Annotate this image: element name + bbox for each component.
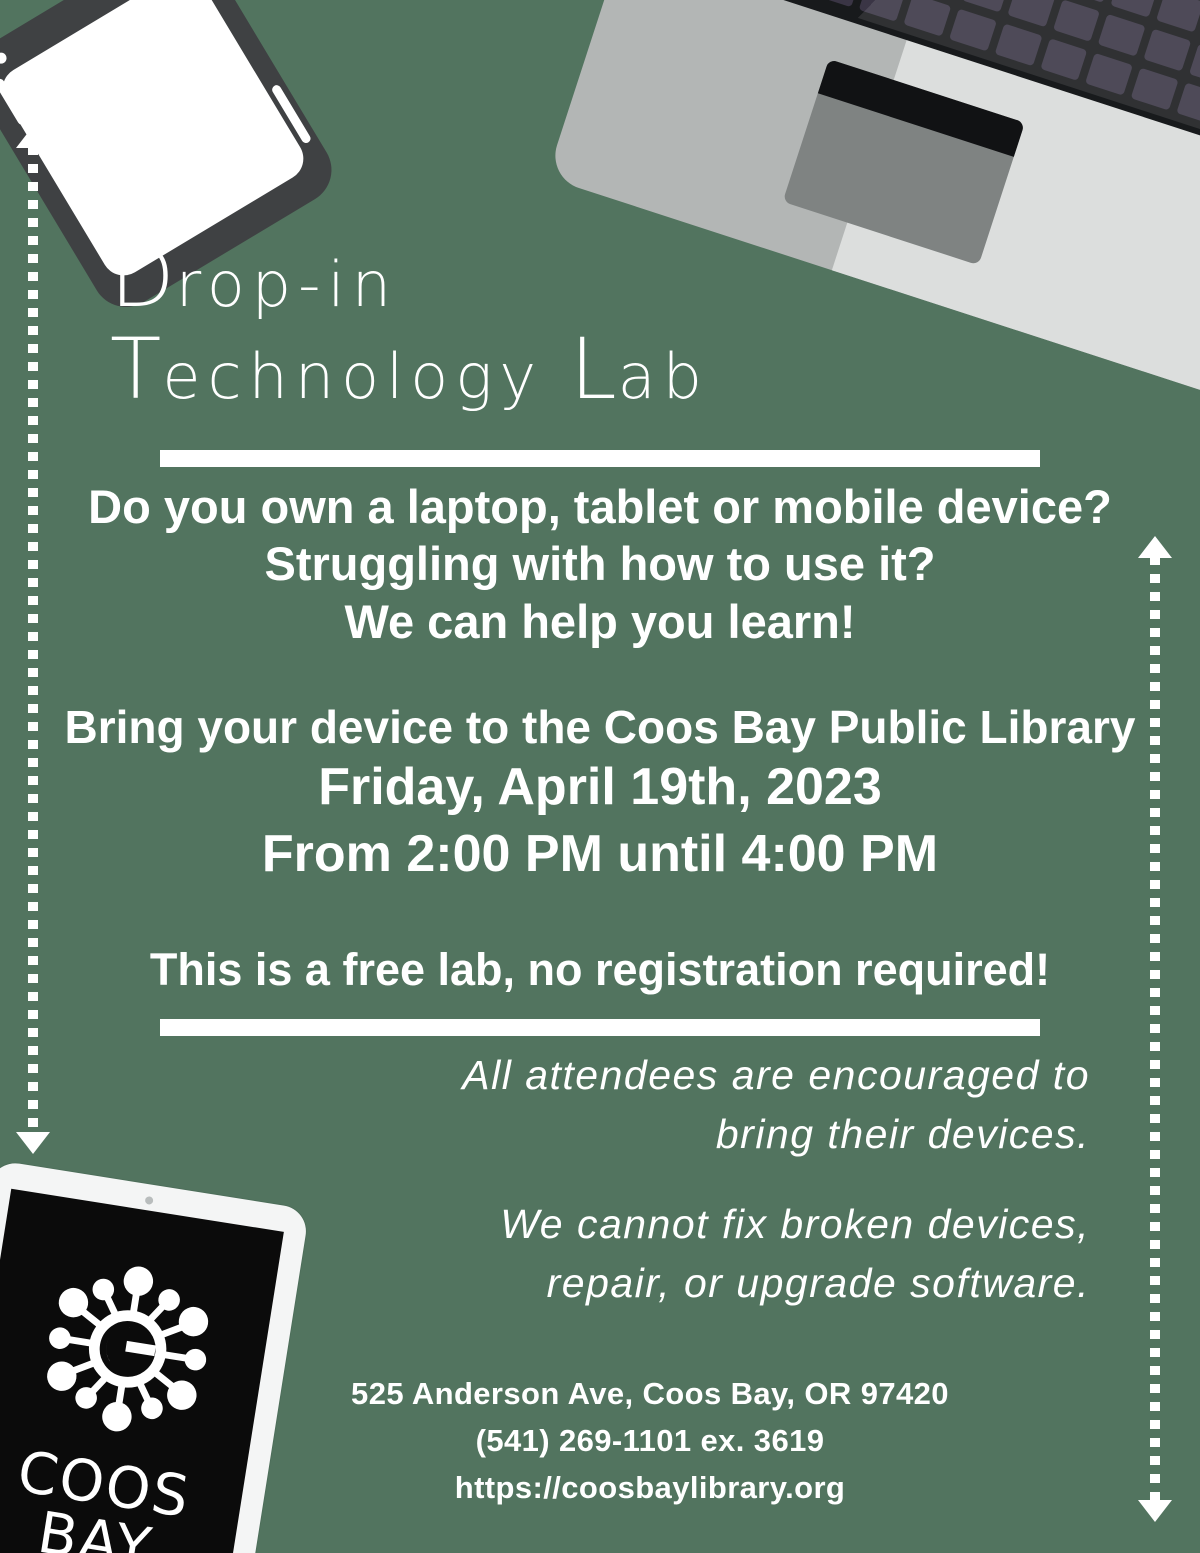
title-rest-2: echnology [162, 340, 570, 413]
note-limitations: We cannot fix broken devices, repair, or… [260, 1195, 1090, 1314]
title-line-1: Drop-in [110, 236, 990, 318]
coos-bay-library-burst-icon [16, 1237, 240, 1461]
note-2-line-1: We cannot fix broken devices, [260, 1195, 1090, 1254]
event-details-block: Bring your device to the Coos Bay Public… [30, 700, 1170, 887]
contact-phone: (541) 269-1101 ex. 3619 [250, 1417, 1050, 1464]
notes-block: All attendees are encouraged to bring th… [260, 1046, 1090, 1314]
event-time-line: From 2:00 PM until 4:00 PM [30, 821, 1170, 888]
free-notice: This is a free lab, no registration requ… [30, 944, 1170, 996]
page-title: Drop-in Technology Lab [110, 236, 990, 411]
title-cap-t: T [110, 320, 162, 418]
contact-address: 525 Anderson Ave, Coos Bay, OR 97420 [250, 1370, 1050, 1417]
intro-line-2: Struggling with how to use it? [40, 535, 1160, 592]
event-date-line: Friday, April 19th, 2023 [30, 754, 1170, 821]
poster-canvas: Drop-in Technology Lab Do you own a lapt… [0, 0, 1200, 1553]
divider-bottom [160, 1019, 1040, 1036]
title-rest-3: ab [618, 340, 709, 413]
intro-line-1: Do you own a laptop, tablet or mobile de… [40, 478, 1160, 535]
contact-block: 525 Anderson Ave, Coos Bay, OR 97420 (54… [250, 1370, 1050, 1511]
note-1-line-2: bring their devices. [260, 1105, 1090, 1164]
contact-website[interactable]: https://coosbaylibrary.org [250, 1464, 1050, 1511]
logo-tablet-screen: COOS BAY PUBLIC LIBRARY [0, 1189, 284, 1553]
note-1-line-1: All attendees are encouraged to [260, 1046, 1090, 1105]
library-logo-tablet: COOS BAY PUBLIC LIBRARY [0, 1160, 310, 1553]
title-cap-d: D [110, 228, 176, 326]
title-cap-l: L [570, 320, 618, 418]
title-rest-1: rop-in [176, 248, 398, 321]
title-line-2: Technology Lab [110, 328, 990, 410]
note-attendees: All attendees are encouraged to bring th… [260, 1046, 1090, 1165]
intro-text-block: Do you own a laptop, tablet or mobile de… [40, 478, 1160, 650]
note-2-line-2: repair, or upgrade software. [260, 1254, 1090, 1313]
divider-top [160, 450, 1040, 467]
event-venue-line: Bring your device to the Coos Bay Public… [30, 700, 1170, 754]
intro-line-3: We can help you learn! [40, 593, 1160, 650]
